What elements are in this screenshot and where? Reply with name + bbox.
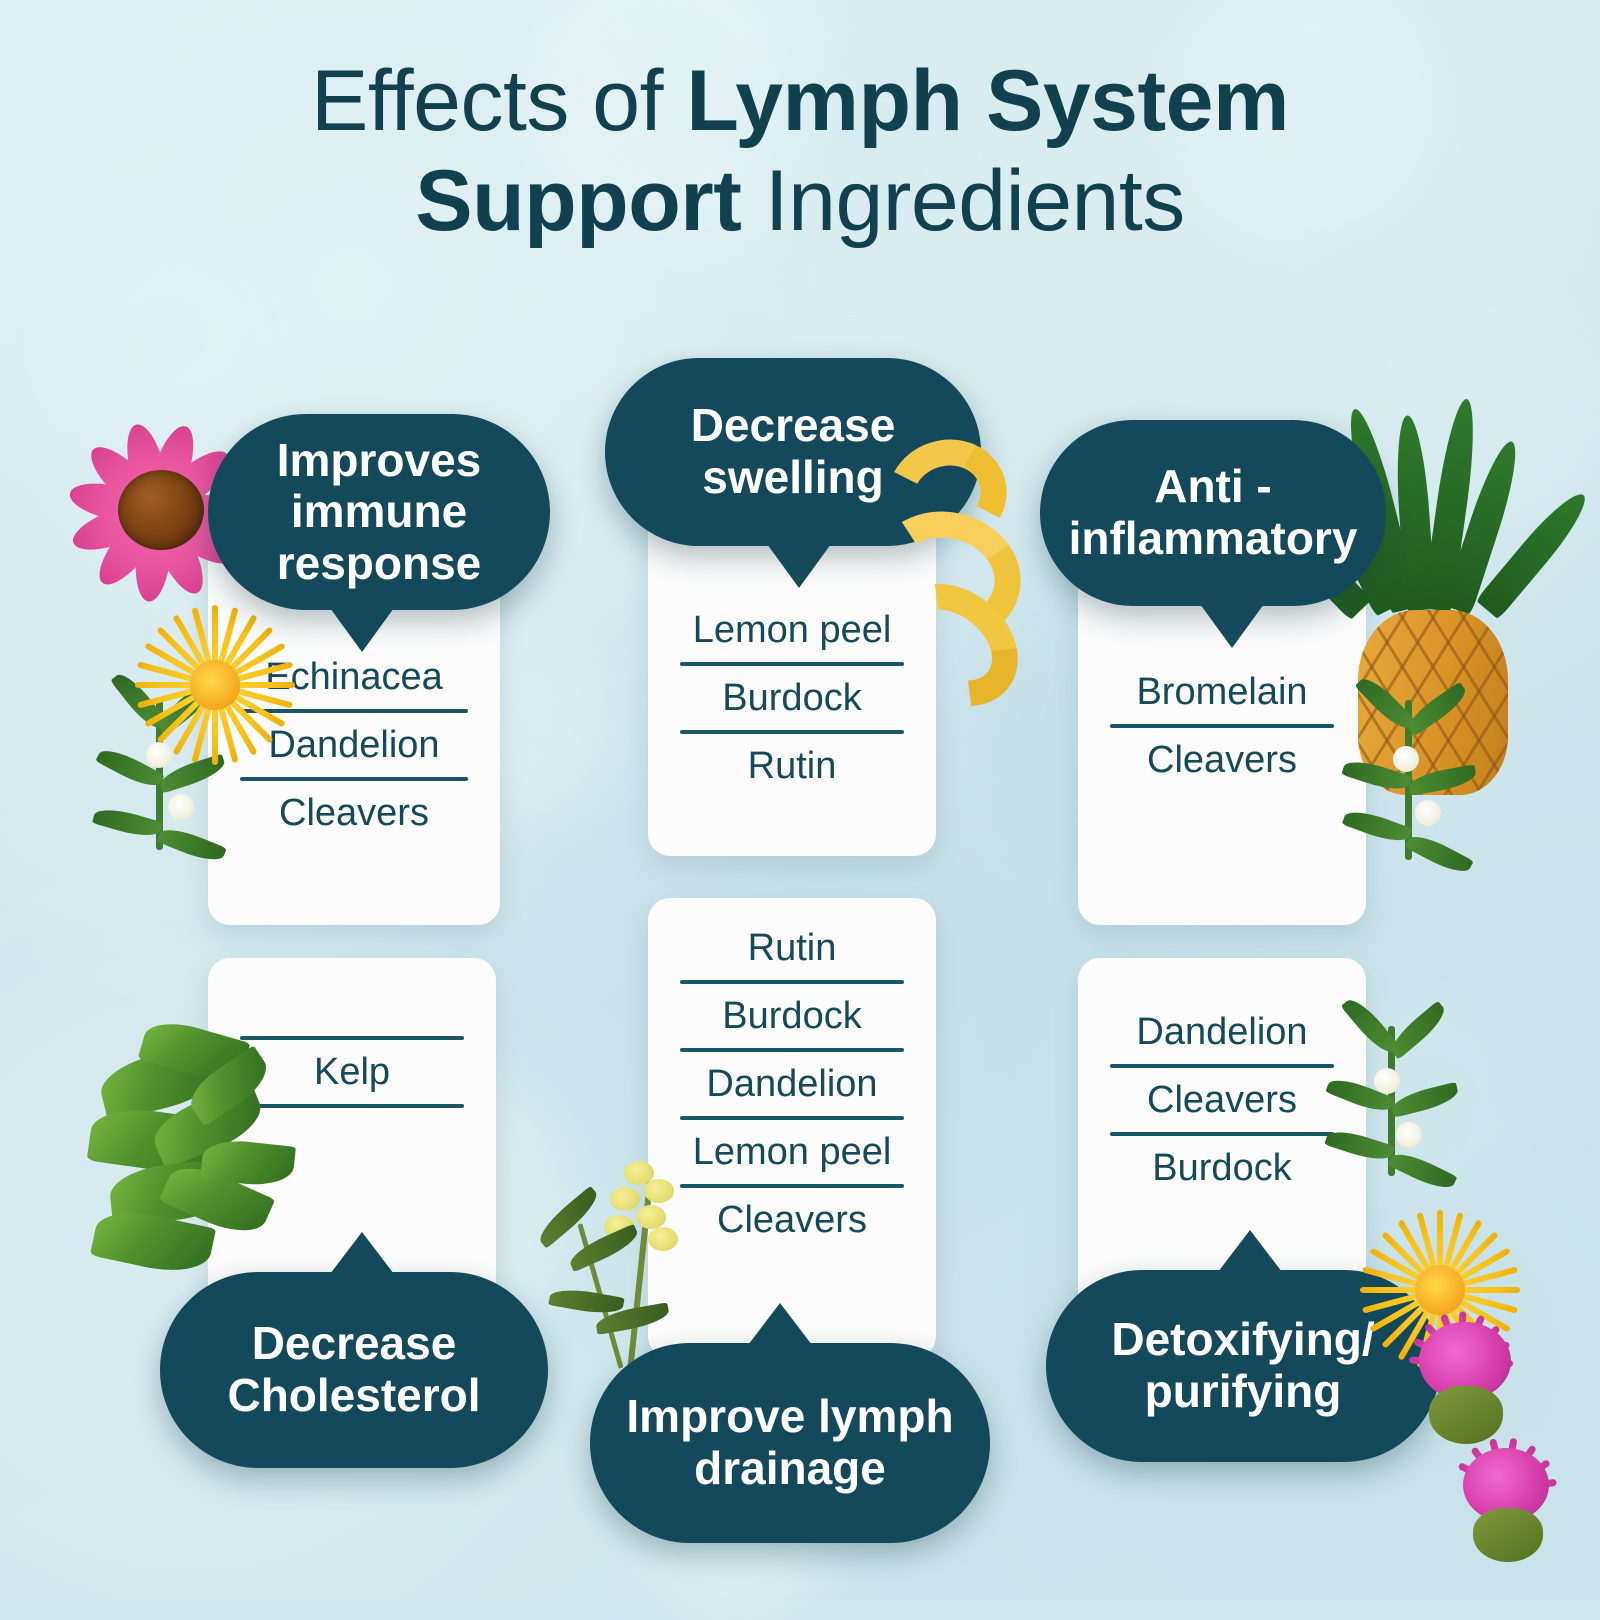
ingredient-item: Cleavers [1104, 728, 1340, 792]
bokeh-blob [1380, 300, 1600, 530]
bubble-tail-icon [330, 1232, 394, 1274]
bubble-label: Detoxifying/ purifying [1074, 1314, 1412, 1417]
ingredient-item: Kelp [234, 1040, 470, 1104]
ingredient-item: Echinacea [234, 645, 474, 709]
ingredient-item: Rutin [674, 734, 910, 798]
ingredient-item: Cleavers [234, 781, 474, 845]
ingredient-item: Burdock [1104, 1136, 1340, 1200]
bubble-label: Improve lymph drainage [618, 1391, 962, 1494]
ingredient-list: Echinacea Dandelion Cleavers [234, 645, 474, 845]
bubble-label: Anti - inflammatory [1068, 461, 1358, 564]
ingredient-item: Burdock [674, 666, 910, 730]
bubble-tail-icon [748, 1303, 812, 1345]
ingredient-list: Kelp [234, 1036, 470, 1108]
ingredient-item: Dandelion [234, 713, 474, 777]
bubble-tail-icon [767, 544, 831, 588]
bubble-decrease-cholesterol[interactable]: Decrease Cholesterol [160, 1272, 548, 1468]
divider [240, 1104, 464, 1108]
card-improve-lymph-drainage[interactable]: Rutin Burdock Dandelion Lemon peel Cleav… [648, 898, 936, 1358]
bokeh-blob [60, 230, 270, 440]
bubble-improves-immune-response[interactable]: Improves immune response [208, 414, 550, 610]
ingredient-item: Cleavers [674, 1188, 910, 1252]
title-line1-normal: Effects of [311, 53, 686, 149]
title-line2-bold: Support [415, 153, 741, 249]
bubble-tail-icon [330, 608, 394, 652]
ingredient-item: Lemon peel [674, 1120, 910, 1184]
ingredient-list: Dandelion Cleavers Burdock [1104, 1000, 1340, 1200]
bubble-label: Decrease Cholesterol [188, 1318, 520, 1421]
bubble-decrease-swelling[interactable]: Decrease swelling [605, 358, 981, 546]
title-line1-bold: Lymph System [686, 53, 1289, 149]
ingredient-item: Cleavers [1104, 1068, 1340, 1132]
ingredient-item: Bromelain [1104, 660, 1340, 724]
ingredient-item: Burdock [674, 984, 910, 1048]
ingredient-item: Dandelion [674, 1052, 910, 1116]
bubble-tail-icon [1218, 1230, 1282, 1272]
page-title: Effects of Lymph System Support Ingredie… [0, 52, 1600, 252]
ingredient-item: Lemon peel [674, 598, 910, 662]
ingredient-item: Dandelion [1104, 1000, 1340, 1064]
ingredient-list: Bromelain Cleavers [1104, 660, 1340, 792]
bubble-label: Decrease swelling [633, 400, 953, 503]
ingredient-list: Lemon peel Burdock Rutin [674, 598, 910, 798]
title-line2-normal: Ingredients [741, 153, 1184, 249]
bubble-anti-inflammatory[interactable]: Anti - inflammatory [1040, 420, 1386, 606]
bubble-label: Improves immune response [236, 435, 522, 590]
bubble-tail-icon [1200, 604, 1264, 648]
bubble-detoxifying-purifying[interactable]: Detoxifying/ purifying [1046, 1270, 1440, 1462]
ingredient-item: Rutin [674, 916, 910, 980]
ingredient-list: Rutin Burdock Dandelion Lemon peel Cleav… [674, 916, 910, 1252]
bubble-improve-lymph-drainage[interactable]: Improve lymph drainage [590, 1343, 990, 1543]
